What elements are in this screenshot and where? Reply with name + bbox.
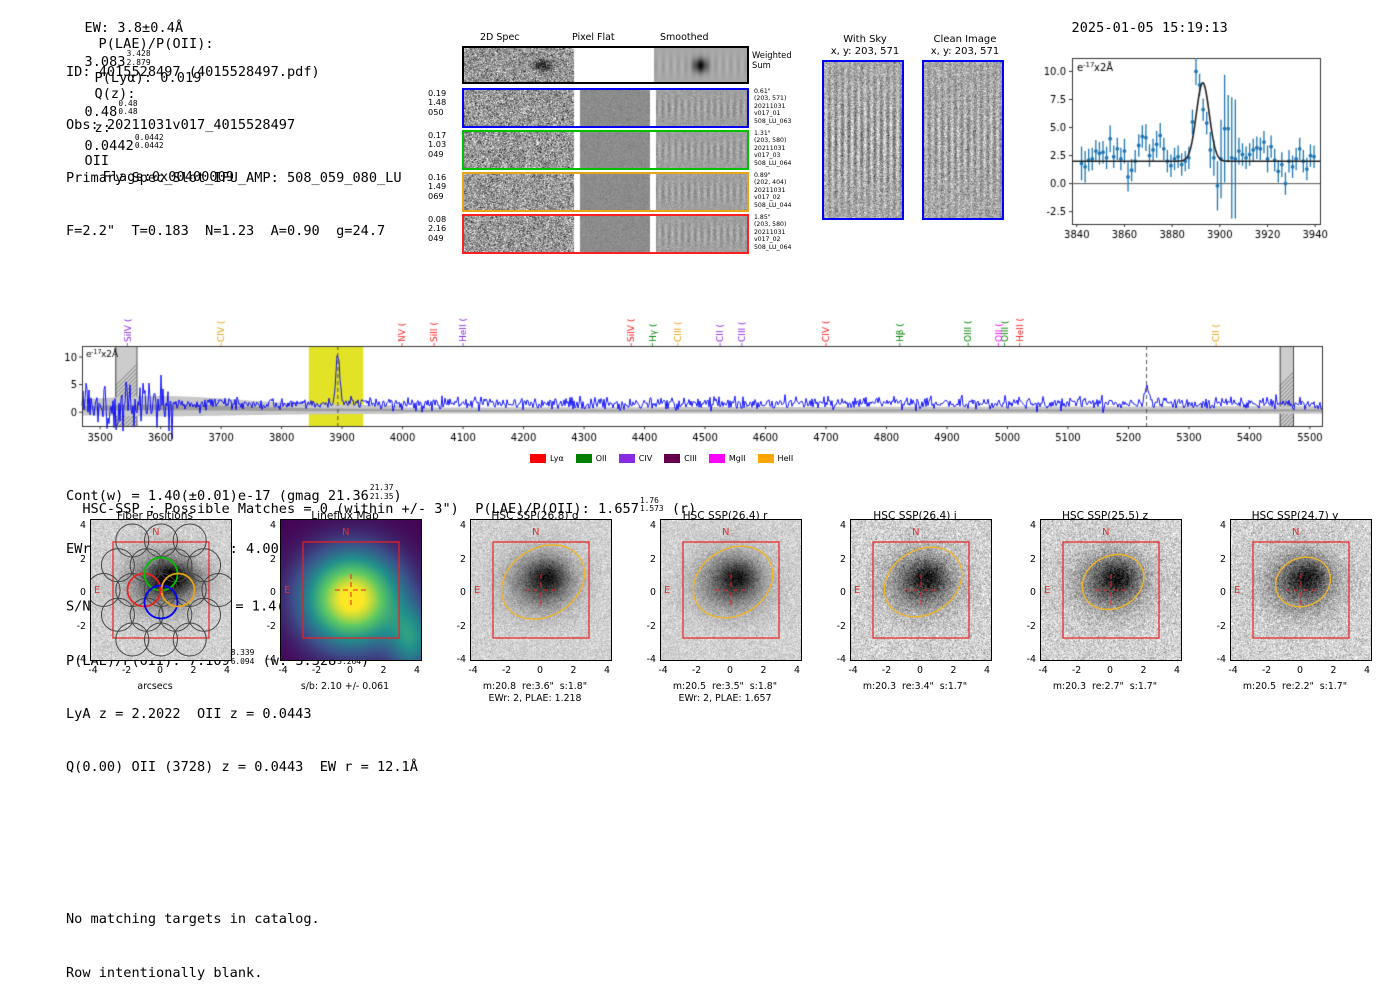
legend-item: CIV: [619, 454, 652, 463]
spec2d-panel: 2D Spec Pixel Flat Smoothed: [462, 32, 752, 46]
with-sky-coords: x, y: 203, 571: [822, 46, 908, 58]
info-seeing: F=2.2" T=0.183 N=1.23 A=0.90 g=24.7: [66, 223, 418, 241]
cutout-x-tick: 2: [563, 665, 585, 676]
spec2d-col-title-2dspec: 2D Spec: [480, 32, 520, 43]
cutout-y-tick: -2: [828, 621, 846, 632]
cutout-y-tick: 2: [448, 554, 466, 565]
cutout-x-tick: 0: [149, 665, 171, 676]
fiber-annotation-line: 508_LU_063: [754, 118, 791, 125]
cutout-x-tick: -4: [1032, 665, 1054, 676]
legend-swatch: [758, 454, 774, 463]
cutout-x-tick: -2: [1256, 665, 1278, 676]
fiber-annotation-line: 1.85": [754, 214, 791, 221]
cutout-y-tick: -4: [68, 654, 86, 665]
cutout-y-axis: 420-2-4: [258, 525, 278, 670]
cutout-x-tick: 2: [943, 665, 965, 676]
legend-item: Lyα: [530, 454, 564, 463]
cutout-image: [1040, 519, 1182, 661]
weighted-label: Weighted: [752, 50, 792, 60]
cutout-x-tick: -4: [1222, 665, 1244, 676]
cutout-x-tick: -2: [306, 665, 328, 676]
compass-north: N: [1292, 527, 1299, 538]
legend-label: CIV: [639, 454, 652, 463]
cutout-y-tick: 2: [68, 554, 86, 565]
fiber-metric: 069: [428, 192, 446, 201]
cutout-x-tick: 2: [1133, 665, 1155, 676]
fiber-annotation-line: 20211031: [754, 187, 791, 194]
legend-swatch: [709, 454, 725, 463]
cutout-caption-line-1: m:20.5 re:3.5" s:1.8": [630, 681, 820, 693]
cutout-overlay: [281, 520, 421, 660]
cutout-y-tick: 0: [828, 587, 846, 598]
cutout-panel: HSC SSP(26.4) r420-2-4NE-4-2024m:20.5 re…: [630, 510, 820, 700]
fiber-row-annotation: 1.85"(203, 580)20211031v017_02508_LU_064: [754, 214, 791, 251]
legend-label: OII: [596, 454, 607, 463]
spectrum-legend: LyαOIICIVCIIIMgIIHeII: [530, 452, 793, 464]
emission-line-plot: [1028, 50, 1328, 250]
cutout-caption-line-1: m:20.3 re:2.7" s:1.7": [1010, 681, 1200, 693]
clean-image-title: Clean Image: [922, 34, 1008, 46]
cutout-caption-line-1: arcsecs: [60, 681, 250, 693]
legend-swatch: [530, 454, 546, 463]
cutout-y-tick: -4: [448, 654, 466, 665]
fiber-row-metrics: 0.082.16049: [428, 215, 446, 243]
cutout-caption: m:20.8 re:3.6" s:1.8"EWr: 2, PLAE: 1.218: [440, 681, 630, 705]
info-id: ID: 4015528497 (4015528497.pdf): [66, 64, 418, 82]
fiber-row-annotation: 1.31"(203, 580)20211031v017_03508_LU_064: [754, 130, 791, 167]
compass-north: N: [152, 527, 159, 538]
cutout-x-axis: -4-2024: [280, 665, 420, 679]
cutout-y-axis: 420-2-4: [1208, 525, 1228, 670]
cutout-image: [280, 519, 422, 661]
fiber-annotation-line: (202, 404): [754, 179, 791, 186]
cutout-y-tick: -2: [638, 621, 656, 632]
cutout-x-tick: 2: [183, 665, 205, 676]
cutout-y-tick: 0: [638, 587, 656, 598]
cutout-x-tick: -2: [876, 665, 898, 676]
fiber-row-image: [462, 172, 749, 212]
cutout-caption-line-2: EWr: 2, PLAE: 1.218: [440, 693, 630, 705]
compass-east: E: [1044, 585, 1050, 596]
compass-east: E: [1234, 585, 1240, 596]
cutout-x-tick: -2: [1066, 665, 1088, 676]
fiber-metric: 049: [428, 234, 446, 243]
cutout-panel: Lineflux Map420-2-4NE-4-2024s/b: 2.10 +/…: [250, 510, 440, 700]
cutout-caption-line-1: m:20.5 re:2.2" s:1.7": [1200, 681, 1390, 693]
cutout-y-tick: -4: [828, 654, 846, 665]
cutout-caption-line-1: m:20.3 re:3.4" s:1.7": [820, 681, 1010, 693]
clean-image-coords: x, y: 203, 571: [922, 46, 1008, 58]
footer-line-2: Row intentionally blank.: [66, 964, 320, 982]
legend-label: Lyα: [550, 454, 564, 463]
fiber-row-annotation: 0.61"(203, 571)20211031v017_01508_LU_063: [754, 88, 791, 125]
cutout-overlay: [91, 520, 231, 660]
legend-item: CIII: [664, 454, 697, 463]
cutout-y-tick: 0: [68, 587, 86, 598]
cutout-y-tick: 4: [68, 520, 86, 531]
cutout-y-tick: -4: [638, 654, 656, 665]
fiber-row-metrics: 0.171.03049: [428, 131, 446, 159]
info-q-line: Q(0.00) OII (3728) z = 0.0443 EW r = 12.…: [66, 759, 418, 777]
fiber-row-annotation: 0.89"(202, 404)20211031v017_02508_LU_044: [754, 172, 791, 209]
fiber-annotation-line: v017_01: [754, 110, 791, 117]
info-primary-spec: Primary Spec_Slot_IFU_AMP: 508_059_080_L…: [66, 170, 418, 188]
cutout-y-tick: -2: [1018, 621, 1036, 632]
cutout-caption: s/b: 2.10 +/- 0.061: [250, 681, 440, 693]
cutout-caption-line-1: m:20.8 re:3.6" s:1.8": [440, 681, 630, 693]
compass-east: E: [284, 585, 290, 596]
cutout-image: [90, 519, 232, 661]
cutout-x-axis: -4-2024: [90, 665, 230, 679]
cutout-y-tick: 2: [1208, 554, 1226, 565]
cutout-image: [1230, 519, 1372, 661]
spec2d-col-title-pixelflat: Pixel Flat: [572, 32, 615, 43]
cutout-x-tick: -2: [116, 665, 138, 676]
cutout-y-axis: 420-2-4: [448, 525, 468, 670]
compass-north: N: [1102, 527, 1109, 538]
cutout-overlay: [1041, 520, 1181, 660]
cutout-y-tick: 4: [1208, 520, 1226, 531]
cutout-y-tick: 4: [448, 520, 466, 531]
fiber-row-image: [462, 130, 749, 170]
clean-image-frame: [922, 60, 1004, 220]
cutout-panel: HSC SSP(24.7) y420-2-4NE-4-2024m:20.5 re…: [1200, 510, 1390, 700]
fiber-annotation-line: 508_LU_044: [754, 202, 791, 209]
cutout-overlay: [1231, 520, 1371, 660]
cutout-y-tick: -2: [258, 621, 276, 632]
spec2d-col-title-smoothed: Smoothed: [660, 32, 709, 43]
fiber-row-metrics: 0.191.48050: [428, 89, 446, 117]
cutout-x-tick: 0: [529, 665, 551, 676]
cutout-row: Fiber Positions420-2-4NE-4-2024arcsecsLi…: [60, 510, 1400, 740]
cutout-panel: HSC SSP(25.5) z420-2-4NE-4-2024m:20.3 re…: [1010, 510, 1200, 700]
fiber-metric: 049: [428, 150, 446, 159]
fiber-row-metrics: 0.161.49069: [428, 173, 446, 201]
cutout-x-tick: 4: [976, 665, 998, 676]
compass-north: N: [912, 527, 919, 538]
cutout-x-tick: 0: [719, 665, 741, 676]
cutout-panel: Fiber Positions420-2-4NE-4-2024arcsecs: [60, 510, 250, 700]
footer-line-1: No matching targets in catalog.: [66, 910, 320, 928]
cutout-y-axis: 420-2-4: [638, 525, 658, 670]
fiber-annotation-line: 1.31": [754, 130, 791, 137]
cutout-y-tick: 4: [638, 520, 656, 531]
compass-north: N: [722, 527, 729, 538]
cutout-panel: HSC SSP(26.4) i420-2-4NE-4-2024m:20.3 re…: [820, 510, 1010, 700]
legend-item: HeII: [758, 454, 794, 463]
cutout-x-tick: 2: [753, 665, 775, 676]
cutout-y-tick: -4: [258, 654, 276, 665]
cutout-x-tick: 4: [406, 665, 428, 676]
info-obs: Obs: 20211031v017_4015528497: [66, 117, 418, 135]
legend-label: MgII: [729, 454, 746, 463]
compass-north: N: [532, 527, 539, 538]
cutout-x-tick: -4: [842, 665, 864, 676]
with-sky-image: [822, 60, 904, 220]
legend-item: OII: [576, 454, 607, 463]
cutout-y-tick: 2: [828, 554, 846, 565]
cutout-image: [470, 519, 612, 661]
cutout-image: [660, 519, 802, 661]
cutout-y-tick: -2: [1208, 621, 1226, 632]
cutout-x-tick: -2: [496, 665, 518, 676]
compass-east: E: [474, 585, 480, 596]
compass-east: E: [664, 585, 670, 596]
cutout-caption: m:20.5 re:2.2" s:1.7": [1200, 681, 1390, 693]
cutout-image: [850, 519, 992, 661]
cutout-x-tick: 0: [1289, 665, 1311, 676]
fiber-annotation-line: 508_LU_064: [754, 244, 791, 251]
cutout-x-tick: 4: [786, 665, 808, 676]
cutout-x-tick: -4: [462, 665, 484, 676]
with-sky-title: With Sky: [822, 34, 908, 46]
legend-label: CIII: [684, 454, 697, 463]
fiber-annotation-line: 20211031: [754, 229, 791, 236]
cutout-x-tick: 4: [596, 665, 618, 676]
spec2d-weighted-sum-strip: [462, 46, 749, 84]
legend-swatch: [576, 454, 592, 463]
cutout-y-tick: -2: [448, 621, 466, 632]
fiber-row-image: [462, 88, 749, 128]
cutout-y-tick: -4: [1018, 654, 1036, 665]
fiber-annotation-line: (203, 580): [754, 137, 791, 144]
cutout-x-tick: 4: [216, 665, 238, 676]
cutout-x-axis: -4-2024: [470, 665, 610, 679]
cutout-caption-line-2: EWr: 2, PLAE: 1.657: [630, 693, 820, 705]
cutout-overlay: [851, 520, 991, 660]
cutout-overlay: [661, 520, 801, 660]
cutout-clean-image: Clean Image x, y: 203, 571: [922, 34, 1008, 220]
fiber-annotation-line: v017_03: [754, 152, 791, 159]
cutout-y-tick: 4: [1018, 520, 1036, 531]
cutout-x-tick: 0: [1099, 665, 1121, 676]
cutout-y-tick: 4: [828, 520, 846, 531]
cutout-y-tick: 0: [1208, 587, 1226, 598]
cutout-x-axis: -4-2024: [1230, 665, 1370, 679]
fiber-metric: 050: [428, 108, 446, 117]
cutout-panel: HSC SSP(26.8) g420-2-4NE-4-2024m:20.8 re…: [440, 510, 630, 700]
legend-swatch: [619, 454, 635, 463]
sum-label: Sum: [752, 60, 792, 70]
cutout-y-tick: 0: [1018, 587, 1036, 598]
cutout-x-tick: -4: [652, 665, 674, 676]
cutout-x-tick: 2: [373, 665, 395, 676]
compass-north: N: [342, 527, 349, 538]
fiber-annotation-line: 20211031: [754, 145, 791, 152]
cutout-caption: arcsecs: [60, 681, 250, 693]
fiber-annotation-line: (203, 571): [754, 95, 791, 102]
cutout-x-tick: 2: [1323, 665, 1345, 676]
hsc-plae-hi: 1.76: [640, 497, 664, 505]
cutout-y-tick: -2: [68, 621, 86, 632]
cutout-x-axis: -4-2024: [850, 665, 990, 679]
cutout-y-tick: 0: [258, 587, 276, 598]
cutout-caption: m:20.5 re:3.5" s:1.8"EWr: 2, PLAE: 1.657: [630, 681, 820, 705]
legend-label: HeII: [778, 454, 794, 463]
cutout-x-tick: 4: [1166, 665, 1188, 676]
cutout-y-axis: 420-2-4: [68, 525, 88, 670]
cutout-y-tick: -4: [1208, 654, 1226, 665]
full-spectrum-panel: [60, 276, 1340, 466]
spec2d-weighted-sum-label: Weighted Sum: [752, 50, 792, 70]
fiber-annotation-line: 0.89": [754, 172, 791, 179]
cutout-y-tick: 2: [258, 554, 276, 565]
footer-notes: No matching targets in catalog. Row inte…: [66, 874, 320, 1000]
compass-east: E: [94, 585, 100, 596]
cutout-y-axis: 420-2-4: [1018, 525, 1038, 670]
cutout-y-tick: 4: [258, 520, 276, 531]
fiber-annotation-line: 20211031: [754, 103, 791, 110]
cutout-caption-line-1: s/b: 2.10 +/- 0.061: [250, 681, 440, 693]
fiber-annotation-line: 508_LU_064: [754, 160, 791, 167]
cutout-caption: m:20.3 re:2.7" s:1.7": [1010, 681, 1200, 693]
cutout-x-tick: -4: [82, 665, 104, 676]
cutout-x-tick: 4: [1356, 665, 1378, 676]
cutout-x-tick: -2: [686, 665, 708, 676]
cutout-x-axis: -4-2024: [1040, 665, 1180, 679]
cutout-x-tick: 0: [909, 665, 931, 676]
legend-swatch: [664, 454, 680, 463]
cutout-x-tick: -4: [272, 665, 294, 676]
compass-east: E: [854, 585, 860, 596]
fiber-annotation-line: v017_02: [754, 236, 791, 243]
cutout-y-tick: 0: [448, 587, 466, 598]
legend-item: MgII: [709, 454, 746, 463]
cutout-x-axis: -4-2024: [660, 665, 800, 679]
cutout-overlay: [471, 520, 611, 660]
cutout-caption: m:20.3 re:3.4" s:1.7": [820, 681, 1010, 693]
header-timestamp: 2025-01-05 15:19:13: [1071, 20, 1227, 36]
cutout-with-sky: With Sky x, y: 203, 571: [822, 34, 908, 220]
cutout-x-tick: 0: [339, 665, 361, 676]
cutout-y-axis: 420-2-4: [828, 525, 848, 670]
fiber-annotation-line: v017_02: [754, 194, 791, 201]
fiber-annotation-line: 0.61": [754, 88, 791, 95]
cutout-y-tick: 2: [1018, 554, 1036, 565]
fiber-annotation-line: (203, 580): [754, 221, 791, 228]
fiber-row-image: [462, 214, 749, 254]
cutout-y-tick: 2: [638, 554, 656, 565]
